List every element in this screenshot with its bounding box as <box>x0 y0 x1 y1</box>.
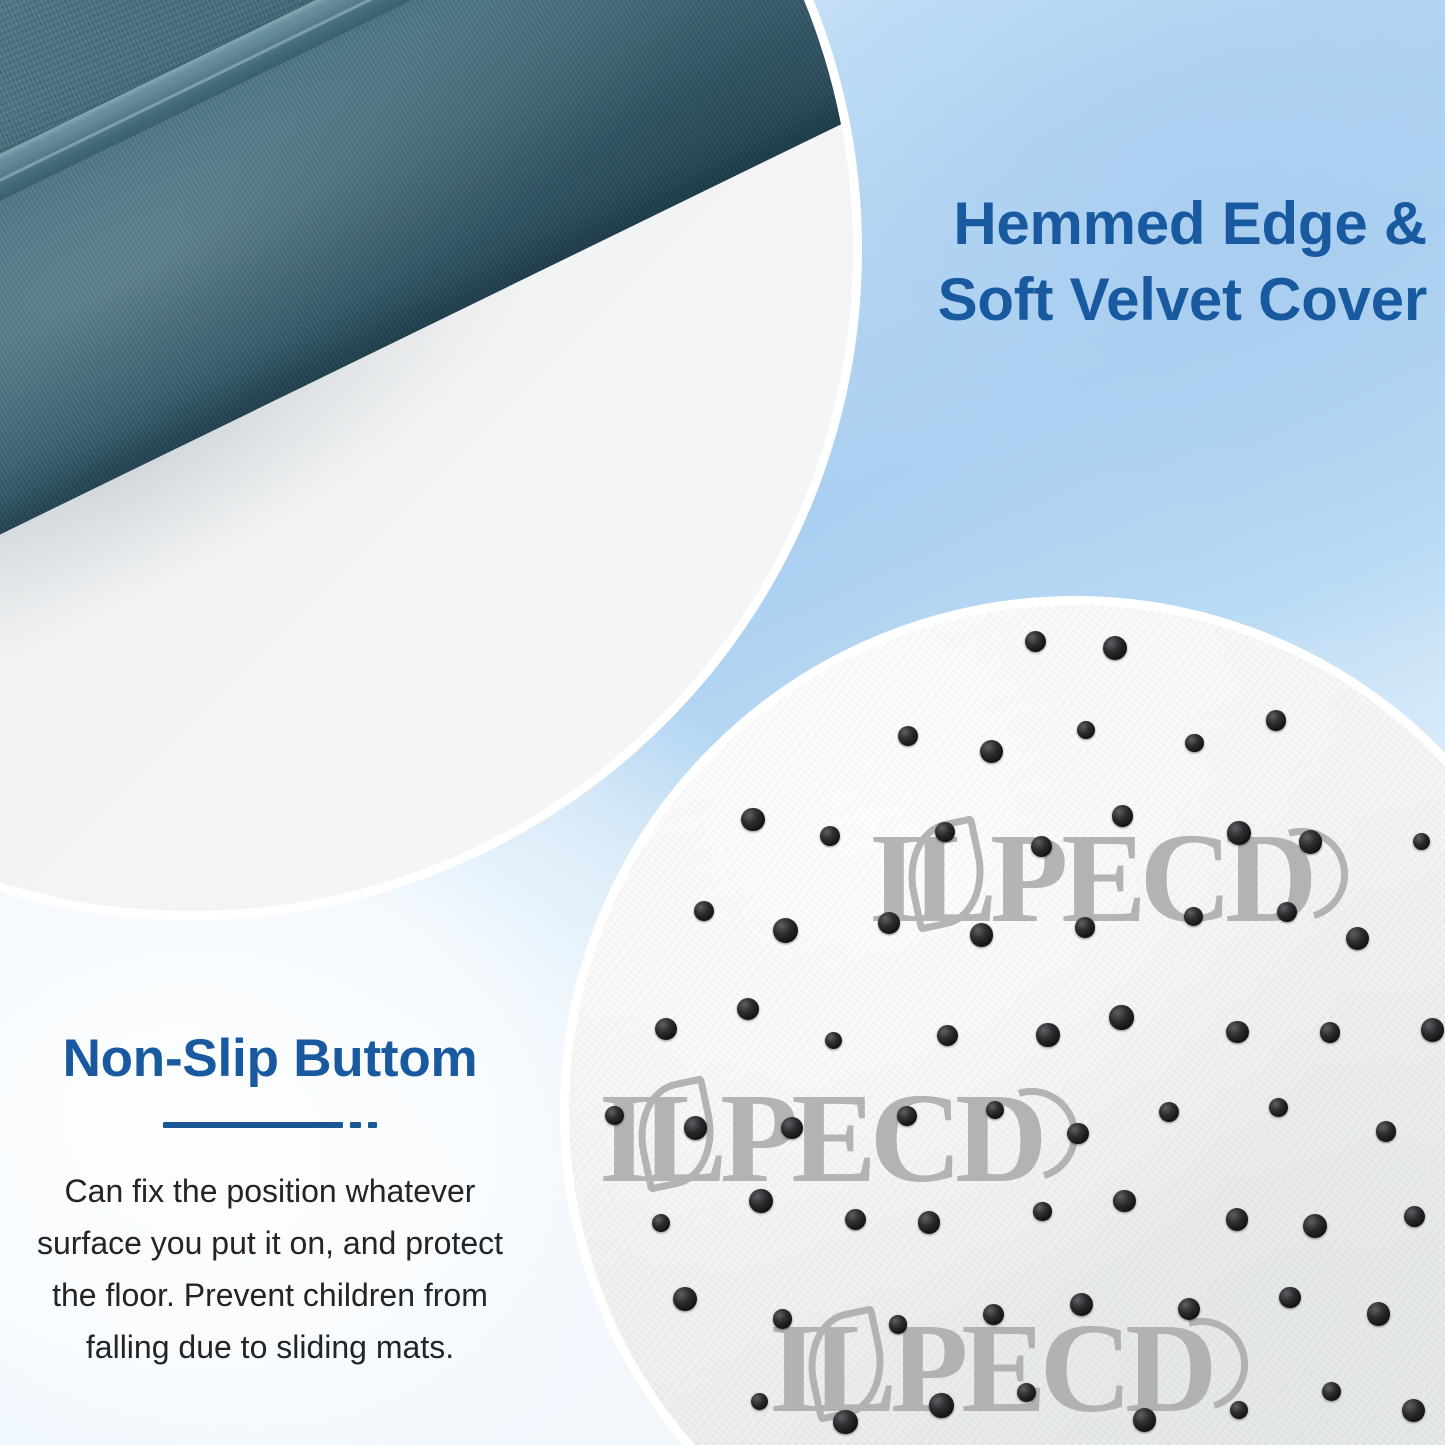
anti-slip-dot <box>1133 1408 1156 1431</box>
anti-slip-dot <box>684 1116 708 1140</box>
anti-slip-dot <box>694 901 714 921</box>
anti-slip-dot <box>673 1287 697 1311</box>
anti-slip-dot <box>751 1393 768 1410</box>
anti-slip-dot <box>1226 1208 1248 1230</box>
nonslip-photo: ILPECD ILPECD ILPECD <box>560 596 1445 1445</box>
anti-slip-dot <box>605 1106 624 1125</box>
anti-slip-dot <box>825 1032 842 1049</box>
divider-pip <box>350 1122 361 1128</box>
headline: Hemmed Edge & Soft Velvet Cover <box>667 186 1427 338</box>
anti-slip-dot <box>1299 830 1322 853</box>
watermark-logo: ILPECD <box>599 1065 1040 1212</box>
feature-title: Non-Slip Buttom <box>0 1030 540 1088</box>
anti-slip-dot <box>1077 721 1095 739</box>
anti-slip-dot <box>918 1211 941 1234</box>
anti-slip-dot <box>1266 710 1286 730</box>
anti-slip-dot <box>1075 917 1096 938</box>
anti-slip-dot <box>1159 1102 1179 1122</box>
anti-slip-dot <box>781 1117 803 1139</box>
anti-slip-dot <box>1036 1023 1059 1046</box>
anti-slip-dot <box>929 1393 953 1417</box>
anti-slip-dot <box>889 1315 907 1333</box>
anti-slip-dot <box>1322 1382 1341 1401</box>
anti-slip-dot <box>749 1189 773 1213</box>
anti-slip-dot <box>1230 1401 1248 1419</box>
anti-slip-dot <box>1112 805 1133 826</box>
anti-slip-dot <box>937 1025 958 1046</box>
divider-pip <box>368 1122 377 1128</box>
anti-slip-dot <box>1113 1190 1136 1213</box>
anti-slip-dot <box>1227 821 1251 845</box>
anti-slip-dot <box>1367 1302 1390 1325</box>
anti-slip-dot <box>833 1410 857 1434</box>
feature-block: Non-Slip Buttom Can fix the position wha… <box>0 1030 540 1374</box>
title-divider <box>0 1122 540 1128</box>
headline-line-1: Hemmed Edge & <box>667 186 1427 262</box>
feature-body: Can fix the position whatever surface yo… <box>0 1166 540 1373</box>
anti-slip-dot <box>737 998 759 1020</box>
divider-bar <box>163 1122 343 1128</box>
anti-slip-dot <box>741 808 765 832</box>
anti-slip-dot <box>1178 1298 1200 1320</box>
anti-slip-dot <box>1277 902 1297 922</box>
anti-slip-dot <box>845 1209 866 1230</box>
anti-slip-dot <box>935 822 955 842</box>
product-feature-graphic: ILPECD ILPECD ILPECD Hemmed Edge & Soft … <box>0 0 1445 1445</box>
anti-slip-dot <box>1033 1202 1051 1220</box>
headline-line-2: Soft Velvet Cover <box>667 262 1427 338</box>
anti-slip-dot <box>983 1304 1004 1325</box>
anti-slip-dot <box>898 726 918 746</box>
anti-slip-dot <box>1226 1021 1248 1043</box>
anti-slip-dot <box>655 1018 677 1040</box>
anti-slip-dot <box>773 918 798 943</box>
anti-slip-dot <box>1109 1005 1133 1029</box>
anti-slip-dot <box>1070 1293 1093 1316</box>
anti-slip-dot <box>1185 734 1203 752</box>
anti-slip-dot <box>1031 836 1052 857</box>
anti-slip-dot <box>773 1309 792 1328</box>
anti-slip-dot <box>1404 1206 1425 1227</box>
anti-slip-dot <box>878 912 900 934</box>
anti-slip-dot <box>970 923 993 946</box>
anti-slip-dot <box>1067 1123 1088 1144</box>
anti-slip-dot <box>1421 1018 1444 1041</box>
anti-slip-dot <box>1320 1022 1340 1042</box>
anti-slip-dot <box>1376 1121 1396 1141</box>
